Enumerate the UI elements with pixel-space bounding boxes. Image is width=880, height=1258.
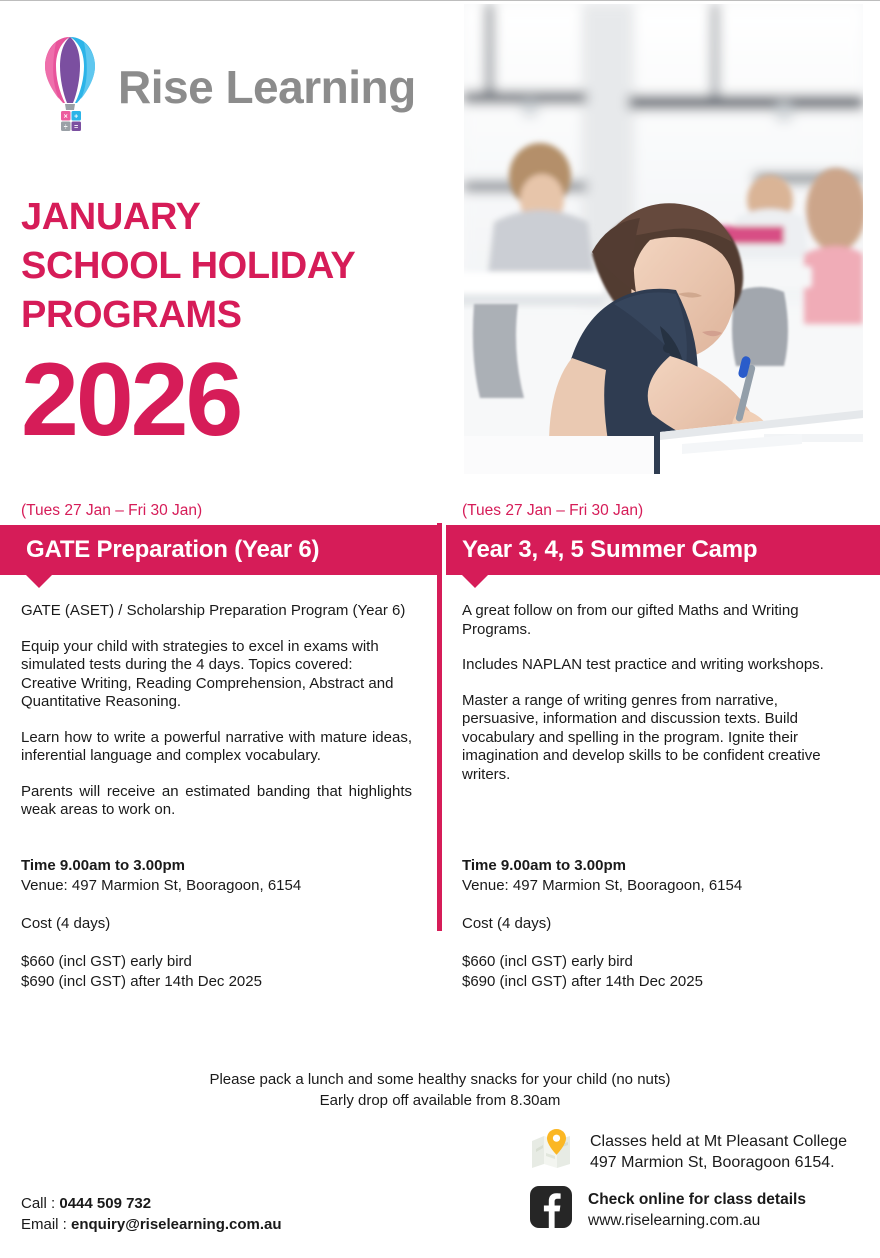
location-line-2: 497 Marmion St, Booragoon 6154.: [590, 1152, 847, 1173]
map-pin-icon: [530, 1129, 574, 1174]
contact-info: Call : 0444 509 732 Email : enquiry@rise…: [21, 1193, 282, 1235]
svg-text:=: =: [74, 124, 78, 131]
location-info: Classes held at Mt Pleasant College 497 …: [530, 1129, 847, 1174]
program-price-early: $660 (incl GST) early bird: [21, 952, 412, 972]
headline-line-2: SCHOOL HOLIDAY: [21, 245, 355, 287]
email-address[interactable]: enquiry@riselearning.com.au: [71, 1216, 282, 1233]
email-row: Email : enquiry@riselearning.com.au: [21, 1214, 282, 1235]
program-dates: (Tues 27 Jan – Fri 30 Jan): [0, 501, 437, 521]
brand-name: Rise Learning: [118, 60, 416, 114]
program-header-band: GATE Preparation (Year 6): [0, 525, 437, 575]
page-title: JANUARY SCHOOL HOLIDAY PROGRAMS 2026: [21, 193, 355, 452]
program-paragraph: Includes NAPLAN test practice and writin…: [462, 656, 855, 675]
program-column-summer-camp: (Tues 27 Jan – Fri 30 Jan) Year 3, 4, 5 …: [446, 501, 880, 801]
classroom-photo: [464, 4, 863, 474]
svg-text:÷: ÷: [64, 124, 68, 131]
call-label: Call :: [21, 1195, 55, 1212]
svg-text:+: +: [74, 114, 78, 121]
program-column-gate: (Tues 27 Jan – Fri 30 Jan) GATE Preparat…: [0, 501, 437, 837]
program-time: Time 9.00am to 3.00pm: [462, 856, 855, 876]
program-header-band: Year 3, 4, 5 Summer Camp: [446, 525, 880, 575]
program-price-early: $660 (incl GST) early bird: [462, 952, 855, 972]
program-paragraph: Parents will receive an estimated bandin…: [21, 783, 412, 820]
program-time: Time 9.00am to 3.00pm: [21, 856, 412, 876]
facebook-icon[interactable]: [530, 1186, 572, 1233]
phone-row: Call : 0444 509 732: [21, 1193, 282, 1214]
program-title: GATE Preparation (Year 6): [0, 525, 437, 575]
program-dates: (Tues 27 Jan – Fri 30 Jan): [446, 501, 880, 521]
program-paragraph: Equip your child with strategies to exce…: [21, 638, 412, 712]
headline-year: 2026: [21, 348, 355, 452]
program-paragraph: GATE (ASET) / Scholarship Preparation Pr…: [21, 602, 412, 621]
program-title: Year 3, 4, 5 Summer Camp: [446, 525, 880, 575]
headline-line-3: PROGRAMS: [21, 294, 242, 336]
hot-air-balloon-icon: × + ÷ =: [32, 33, 108, 141]
online-info[interactable]: Check online for class details www.risel…: [530, 1186, 806, 1233]
lunch-note-line-2: Early drop off available from 8.30am: [0, 1090, 880, 1111]
program-paragraph: Master a range of writing genres from na…: [462, 692, 855, 785]
program-cost-label: Cost (4 days): [21, 914, 412, 934]
lunch-note-line-1: Please pack a lunch and some healthy sna…: [0, 1069, 880, 1090]
program-price-late: $690 (incl GST) after 14th Dec 2025: [462, 972, 855, 992]
program-price-late: $690 (incl GST) after 14th Dec 2025: [21, 972, 412, 992]
phone-number[interactable]: 0444 509 732: [59, 1195, 151, 1212]
email-label: Email :: [21, 1216, 67, 1233]
brand-logo: × + ÷ = Rise Learning: [32, 33, 416, 141]
program-description: A great follow on from our gifted Maths …: [446, 575, 880, 784]
program-cost-label: Cost (4 days): [462, 914, 855, 934]
svg-text:×: ×: [64, 114, 68, 121]
program-paragraph: A great follow on from our gifted Maths …: [462, 602, 855, 639]
online-text: Check online for class details www.risel…: [588, 1189, 806, 1231]
program-details: Time 9.00am to 3.00pm Venue: 497 Marmion…: [0, 856, 437, 992]
program-description: GATE (ASET) / Scholarship Preparation Pr…: [0, 575, 437, 820]
column-divider: [437, 523, 442, 931]
flyer-page: × + ÷ = Rise Learning JANUARY SCHOOL HOL…: [0, 0, 880, 1258]
website-url[interactable]: www.riselearning.com.au: [588, 1210, 806, 1231]
program-venue: Venue: 497 Marmion St, Booragoon, 6154: [21, 876, 412, 896]
band-notch-icon: [26, 575, 52, 588]
location-line-1: Classes held at Mt Pleasant College: [590, 1131, 847, 1152]
lunch-note: Please pack a lunch and some healthy sna…: [0, 1069, 880, 1111]
program-details: Time 9.00am to 3.00pm Venue: 497 Marmion…: [446, 856, 880, 992]
program-venue: Venue: 497 Marmion St, Booragoon, 6154: [462, 876, 855, 896]
program-paragraph: Learn how to write a powerful narrative …: [21, 729, 412, 766]
online-line-1: Check online for class details: [588, 1189, 806, 1210]
headline-line-1: JANUARY: [21, 196, 200, 238]
location-text: Classes held at Mt Pleasant College 497 …: [590, 1131, 847, 1173]
band-notch-icon: [462, 575, 488, 588]
